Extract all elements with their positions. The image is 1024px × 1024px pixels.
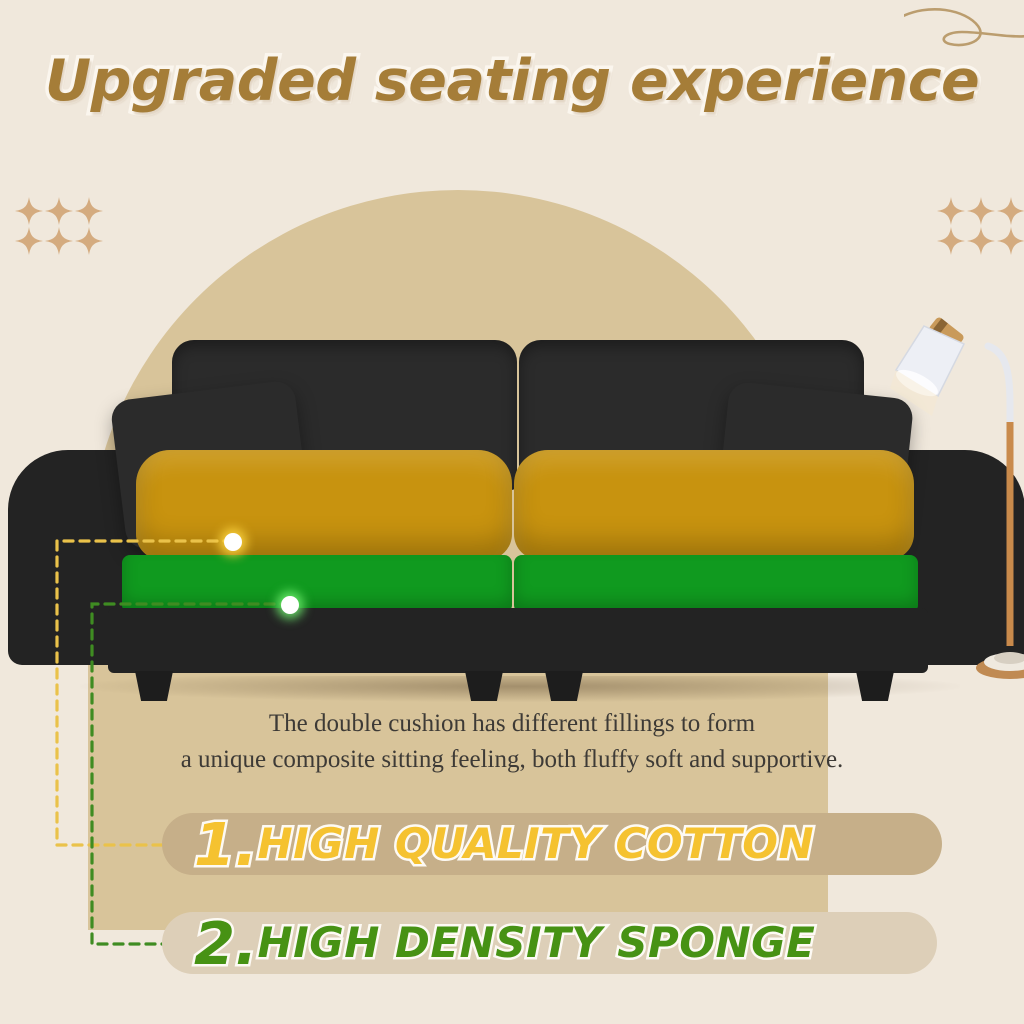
seat-layer-sponge-right [514, 555, 918, 613]
sparkle-icon [936, 226, 966, 256]
floor-lamp [880, 300, 1024, 700]
sparkle-cluster-left [14, 196, 104, 256]
sparkle-icon [996, 196, 1024, 226]
glow-dot-sponge [281, 596, 299, 614]
sofa-illustration [0, 330, 1024, 710]
sparkle-icon [966, 226, 996, 256]
sofa-leg [135, 671, 173, 701]
page-title: Upgraded seating experience [0, 48, 1024, 114]
sofa-leg [545, 671, 583, 701]
description-text: The double cushion has different filling… [0, 706, 1024, 778]
glow-dot-cotton [224, 533, 242, 551]
sofa-base [108, 608, 928, 673]
sparkle-icon [74, 226, 104, 256]
seat-cushion-cotton-right [514, 450, 914, 560]
feature-number-1: 1. [194, 815, 257, 874]
seat-cushion-cotton-left [136, 450, 512, 560]
feature-label-1: HIGH QUALITY COTTON [257, 823, 814, 865]
description-line-1: The double cushion has different filling… [0, 706, 1024, 742]
sofa-leg [465, 671, 503, 701]
feature-pill-sponge[interactable]: 2. HIGH DENSITY SPONGE [162, 912, 937, 974]
feature-label-2: HIGH DENSITY SPONGE [257, 922, 815, 964]
feature-pill-cotton[interactable]: 1. HIGH QUALITY COTTON [162, 813, 942, 875]
lamp-shade [890, 326, 964, 416]
description-line-2: a unique composite sitting feeling, both… [0, 742, 1024, 778]
promo-banner: Upgraded seating experience [0, 0, 1024, 1024]
sparkle-icon [966, 196, 996, 226]
sparkle-icon [996, 226, 1024, 256]
sparkle-icon [14, 226, 44, 256]
sparkle-icon [74, 196, 104, 226]
sparkle-icon [14, 196, 44, 226]
sparkle-icon [44, 226, 74, 256]
sparkle-icon [44, 196, 74, 226]
sparkle-icon [936, 196, 966, 226]
seat-layer-sponge-left [122, 555, 512, 613]
feature-number-2: 2. [194, 914, 257, 973]
sparkle-cluster-right [936, 196, 1024, 256]
